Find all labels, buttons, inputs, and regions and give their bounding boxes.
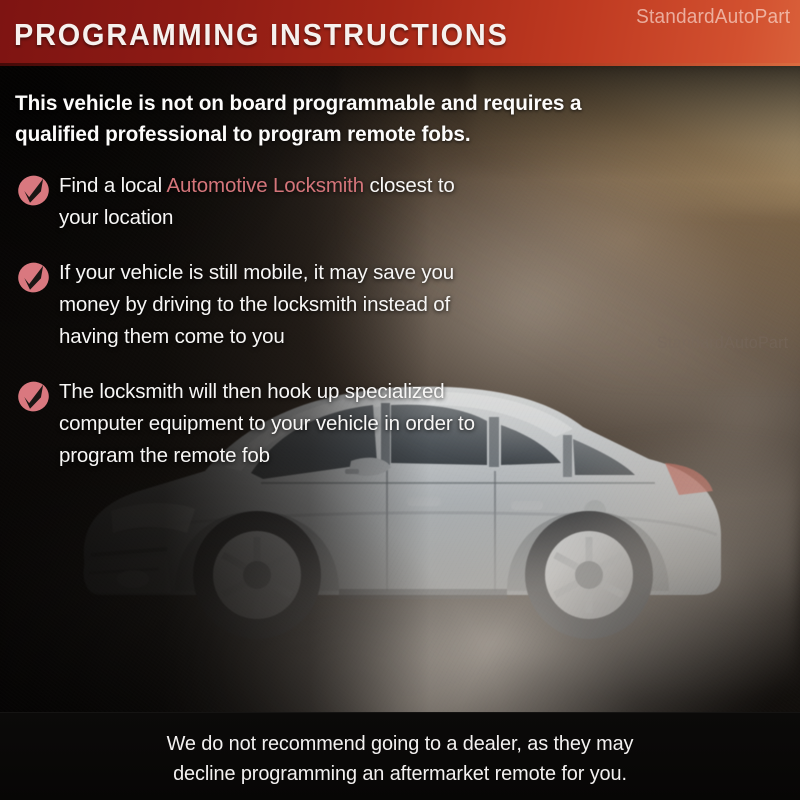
list-item-text: Find a local Automotive Locksmith closes… [59,174,455,229]
list-item: The locksmith will then hook up speciali… [16,376,486,472]
programming-instructions-poster: PROGRAMMING INSTRUCTIONS StandardAutoPar… [0,0,800,800]
footer-note: We do not recommend going to a dealer, a… [12,729,788,789]
list-item-text: The locksmith will then hook up speciali… [59,380,475,467]
list-item-text: If your vehicle is still mobile, it may … [59,261,454,348]
header-bar: PROGRAMMING INSTRUCTIONS StandardAutoPar… [0,0,800,66]
footer-line-2: decline programming an aftermarket remot… [12,759,788,789]
lead-line-2: qualified professional to program remote… [15,119,710,150]
page-title: PROGRAMMING INSTRUCTIONS [14,17,509,53]
brand-watermark-header: StandardAutoPart [636,6,790,29]
brand-watermark-middle: StandardAutoPart [657,333,788,353]
check-circle-icon [16,173,51,208]
main-content: This vehicle is not on board programmabl… [0,66,800,712]
instruction-list: Find a local Automotive Locksmith closes… [16,170,486,495]
footer-bar: We do not recommend going to a dealer, a… [0,712,800,800]
footer-line-1: We do not recommend going to a dealer, a… [12,729,788,759]
lead-paragraph: This vehicle is not on board programmabl… [15,88,710,150]
list-item-text-before: Find a local [59,174,166,197]
locksmith-highlight: Automotive Locksmith [166,174,364,197]
check-circle-icon [16,379,51,414]
list-item: Find a local Automotive Locksmith closes… [16,170,486,234]
check-circle-icon [16,260,51,295]
list-item: If your vehicle is still mobile, it may … [16,257,486,353]
lead-line-1: This vehicle is not on board programmabl… [15,88,710,119]
